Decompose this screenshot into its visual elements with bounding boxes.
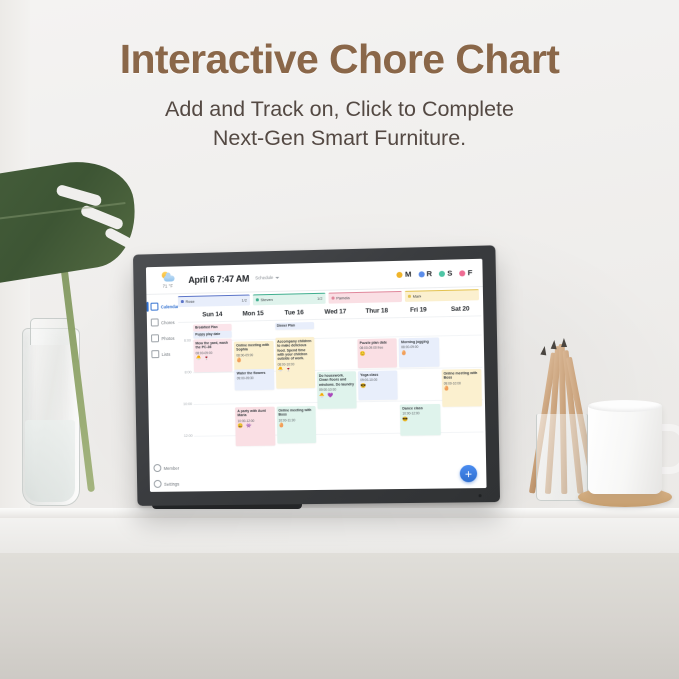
time-label: 8:00 [185, 370, 192, 374]
weather-widget[interactable]: 71 °F [152, 272, 184, 289]
app-body: Calendar Chores Photos Lists [146, 287, 486, 492]
calendar-content: Rose 1/2 Steven 1/2 Pamela [178, 287, 487, 492]
sidebar-item-label: Calendar [161, 304, 179, 309]
event-title: Puppy play date [195, 332, 220, 337]
event-title: Dinner Plan [277, 324, 295, 329]
event-reaction-icon[interactable]: 🐣 🍷 [196, 356, 231, 361]
calendar-event[interactable]: Puppy play date [193, 331, 232, 339]
event-title: Water the flowers [237, 370, 272, 375]
vase-water [25, 420, 75, 502]
event-reaction-icon[interactable]: 🐣 💜 [319, 393, 354, 398]
category-dot [332, 297, 335, 300]
avatar-dot [459, 270, 465, 276]
promo-header: Interactive Chore Chart Add and Track on… [0, 0, 679, 152]
smart-display-device: 71 °F April 6 7:47 AM Schedule M R [133, 245, 500, 506]
calendar-icon [150, 303, 158, 311]
device-screen: 71 °F April 6 7:47 AM Schedule M R [146, 259, 487, 492]
category-dot [408, 295, 411, 298]
sidebar-item-lists[interactable]: Lists [147, 346, 179, 362]
day-columns: Breakfast PlanPuppy play dateMow the yar… [192, 316, 484, 491]
event-reaction-icon[interactable]: 😊 [360, 351, 396, 356]
member-avatars: M R S F [397, 268, 476, 279]
sidebar-item-label: Lists [162, 351, 171, 356]
calendar-event[interactable]: Accompany children to make delicious foo… [275, 337, 315, 389]
day-column[interactable]: Online meeting with Sophia08:00-09:00🥚Wa… [233, 321, 277, 491]
view-selector-label: Schedule [255, 275, 273, 280]
sidebar-item-member[interactable]: Member [149, 460, 181, 476]
event-reaction-icon[interactable]: 🥚 [236, 358, 271, 363]
photos-icon [151, 334, 159, 342]
chore-chart-app: 71 °F April 6 7:47 AM Schedule M R [146, 259, 487, 492]
avatar-initial: S [447, 269, 452, 278]
event-title: Breakfast Plan [195, 325, 218, 330]
calendar-event[interactable]: Puzzle plan date08:00-09:00 free😊 [357, 338, 397, 368]
shelf-front [0, 553, 679, 679]
pencil-tip [561, 338, 567, 347]
avatar-initial: F [468, 268, 473, 277]
category-dot [181, 300, 184, 303]
event-title: Yoga class [360, 372, 396, 377]
event-title: Online meeting with Boss [443, 371, 479, 381]
sun-behind-cloud-icon [160, 272, 175, 282]
mug-rim [588, 400, 662, 412]
white-mug [588, 404, 662, 494]
event-reaction-icon[interactable]: 😎 [360, 383, 396, 388]
view-selector[interactable]: Schedule [255, 275, 279, 281]
pencil-cup [536, 414, 588, 501]
sidebar-item-label: Chores [161, 320, 175, 325]
gear-icon [154, 480, 162, 488]
event-reaction-icon[interactable]: 😄 👾 [238, 424, 273, 429]
promo-subtitle-line2: Next-Gen Smart Furniture. [0, 124, 679, 153]
event-time: 09:00-09:30 [237, 376, 272, 381]
category-name: Pamela [336, 295, 350, 300]
sidebar-item-photos[interactable]: Photos [147, 330, 179, 347]
avatar[interactable]: F [459, 268, 472, 277]
calendar-event[interactable]: Dance class10:00-12:00😎 [400, 404, 440, 436]
datetime-label: April 6 7:47 AM [188, 273, 249, 284]
camera-indicator-icon [478, 494, 482, 497]
avatar-dot [418, 271, 424, 277]
avatar-initial: R [426, 269, 432, 278]
event-title: Morning jogging [401, 339, 437, 344]
sidebar-item-label: Member [164, 465, 179, 470]
event-title: Accompany children to make delicious foo… [277, 339, 313, 362]
event-reaction-icon[interactable]: 🥚 [444, 386, 480, 391]
calendar-event[interactable]: Water the flowers09:00-09:30 [235, 369, 274, 391]
pencil-tip [551, 340, 558, 349]
day-column[interactable]: Morning jogging08:00-09:00🥚Dance class10… [398, 317, 443, 489]
category-dot [256, 298, 259, 301]
day-header[interactable]: Fri 19 [397, 306, 439, 314]
event-reaction-icon[interactable]: 🥚 [401, 350, 437, 355]
page-title: Interactive Chore Chart [0, 36, 679, 83]
time-label: 6:00 [184, 339, 191, 343]
avatar[interactable]: M [397, 270, 412, 279]
sidebar-item-calendar[interactable]: Calendar [146, 298, 178, 315]
event-time: 09:00-10:00 [360, 378, 396, 383]
day-header[interactable]: Sat 20 [439, 305, 481, 313]
sidebar-spacer [148, 362, 181, 461]
day-header[interactable]: Tue 16 [273, 309, 314, 317]
category-name: Steven [260, 297, 272, 302]
day-header[interactable]: Wed 17 [315, 308, 356, 316]
event-title: Online meeting with Boss [278, 408, 313, 417]
sidebar-item-label: Settings [164, 481, 179, 486]
day-column[interactable]: Dinner PlanAccompany children to make de… [274, 320, 318, 490]
sidebar-item-label: Photos [161, 335, 174, 340]
event-title: Puzzle plan date [360, 340, 396, 345]
calendar-grid[interactable]: 6:00 8:00 10:00 12:00 Breakfast PlanPupp… [178, 315, 484, 491]
avatar-dot [439, 270, 445, 276]
event-time: 10:00-12:00 [402, 411, 438, 416]
calendar-event[interactable]: Yoga class09:00-10:00😎 [358, 370, 398, 400]
time-label: 12:00 [184, 434, 193, 438]
category-chip-steven[interactable]: Steven 1/2 [253, 293, 326, 306]
day-header[interactable]: Thur 18 [356, 307, 398, 315]
event-time: 09:00-10:00 [319, 387, 354, 392]
avatar[interactable]: R [418, 269, 432, 278]
avatar-initial: M [405, 270, 412, 279]
calendar-event[interactable]: Online meeting with Sophia08:00-09:00🥚 [234, 341, 273, 371]
promo-subtitle-line1: Add and Track on, Click to Complete [0, 95, 679, 124]
event-title: Mow the yard, wash the PC-36 [195, 340, 230, 350]
calendar-event[interactable]: Mow the yard, wash the PC-3608:00-09:00🐣… [193, 339, 232, 373]
category-count: 1/2 [241, 298, 247, 303]
time-label: 10:00 [183, 402, 192, 406]
event-reaction-icon[interactable]: 🐣 🍷 [278, 368, 313, 373]
calendar-event[interactable]: Online meeting with Boss09:00-10:00🥚 [441, 369, 482, 407]
calendar-event[interactable]: Morning jogging08:00-09:00🥚 [399, 337, 439, 367]
event-title: Dance class [402, 406, 438, 411]
day-column[interactable]: Online meeting with Boss09:00-10:00🥚 [439, 316, 484, 488]
event-time: 08:00-09:00 free [360, 345, 396, 350]
add-event-button[interactable]: + [460, 465, 478, 482]
calendar-event[interactable]: A party with Aunt Maria10:00-12:00😄 👾 [235, 407, 275, 447]
temperature-label: 71 °F [163, 283, 173, 288]
calendar-event[interactable]: Dinner Plan [275, 322, 314, 330]
event-title: Online meeting with Sophia [236, 342, 271, 352]
category-chip-rose[interactable]: Rose 1/2 [178, 295, 250, 308]
category-count: 1/2 [317, 296, 323, 301]
calendar-event[interactable]: Online meeting with Boss10:00-11:30🥚 [276, 406, 316, 444]
category-chip-mark[interactable]: Mark [405, 289, 479, 302]
calendar-event[interactable]: Do housework. Clean floors and windows. … [317, 371, 357, 409]
event-title: A party with Aunt Maria [237, 408, 272, 417]
day-column[interactable]: Do housework. Clean floors and windows. … [315, 319, 359, 490]
day-header[interactable]: Sun 14 [192, 311, 233, 319]
category-chip-pamela[interactable]: Pamela [328, 291, 402, 304]
category-name: Mark [413, 294, 422, 299]
sidebar-item-chores[interactable]: Chores [147, 314, 179, 331]
event-reaction-icon[interactable]: 😎 [402, 417, 438, 422]
event-reaction-icon[interactable]: 🥚 [279, 423, 314, 428]
category-name: Rose [185, 299, 194, 304]
sidebar: Calendar Chores Photos Lists [146, 294, 181, 492]
member-icon [153, 464, 161, 472]
sidebar-item-settings[interactable]: Settings [150, 476, 182, 492]
chevron-down-icon [275, 276, 279, 278]
lists-icon [151, 350, 159, 358]
vase-neck [30, 318, 72, 345]
day-header[interactable]: Mon 15 [233, 310, 274, 318]
shelf-edge [0, 508, 679, 518]
avatar-dot [397, 271, 403, 277]
day-column[interactable]: Breakfast PlanPuppy play dateMow the yar… [192, 322, 236, 492]
event-time: 08:00-09:00 [401, 345, 437, 350]
event-title: Do housework. Clean floors and windows. … [319, 373, 355, 387]
day-column[interactable]: Puzzle plan date08:00-09:00 free😊Yoga cl… [356, 318, 401, 489]
promo-subtitle: Add and Track on, Click to Complete Next… [0, 95, 679, 152]
chores-icon [151, 318, 159, 326]
avatar[interactable]: S [439, 269, 452, 278]
